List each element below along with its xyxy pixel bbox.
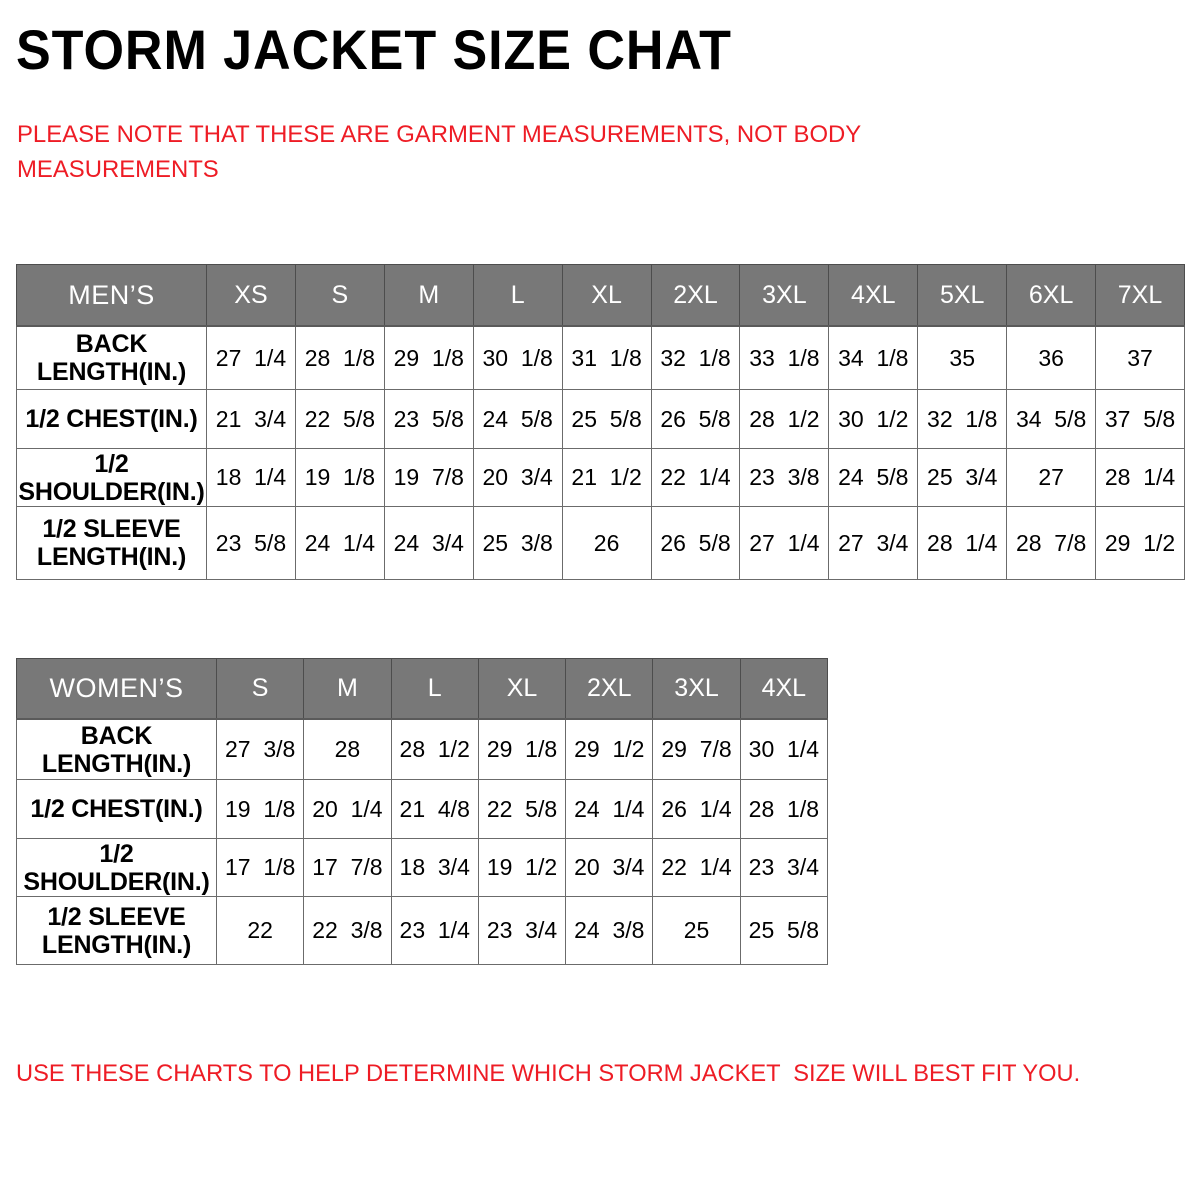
measurement-label-text: 1/2 SHOULDER(IN.) [17,840,216,896]
mens-size-header-xl: XL [562,265,651,327]
mens-measurement-value: 23 5/8 [384,390,473,449]
mens-measurement-value: 29 1/2 [1096,507,1185,580]
measurement-label-text: 1/2 CHEST(IN.) [17,795,216,823]
mens-measurement-label: 1/2 SLEEVE LENGTH(IN.) [17,507,207,580]
womens-measurement-label: 1/2 CHEST(IN.) [17,780,217,839]
table-row: 1/2 SLEEVE LENGTH(IN.)2222 3/823 1/423 3… [17,897,828,965]
womens-measurement-value: 28 1/2 [391,719,478,780]
womens-measurement-value: 27 3/8 [217,719,304,780]
womens-measurement-label: BACK LENGTH(IN.) [17,719,217,780]
mens-measurement-label: 1/2 CHEST(IN.) [17,390,207,449]
measurement-label-text: BACK LENGTH(IN.) [17,330,206,386]
womens-measurement-value: 30 1/4 [740,719,827,780]
womens-size-header-l: L [391,659,478,720]
table-row: 1/2 CHEST(IN.)19 1/820 1/421 4/822 5/824… [17,780,828,839]
womens-measurement-value: 25 5/8 [740,897,827,965]
garment-measurement-note: PLEASE NOTE THAT THESE ARE GARMENT MEASU… [17,118,953,188]
mens-measurement-value: 19 1/8 [295,449,384,507]
mens-measurement-value: 23 5/8 [207,507,296,580]
mens-measurement-value: 30 1/2 [829,390,918,449]
mens-size-header-6xl: 6XL [1007,265,1096,327]
mens-table-head: MEN’S XSSMLXL2XL3XL4XL5XL6XL7XL [17,265,1185,327]
mens-measurement-value: 28 1/2 [740,390,829,449]
womens-size-header-xl: XL [478,659,565,720]
womens-size-header-m: M [304,659,391,720]
womens-measurement-value: 22 1/4 [653,839,740,897]
table-row: 1/2 SLEEVE LENGTH(IN.)23 5/824 1/424 3/4… [17,507,1185,580]
womens-measurement-value: 23 3/4 [478,897,565,965]
womens-measurement-value: 25 [653,897,740,965]
mens-measurement-value: 27 [1007,449,1096,507]
womens-measurement-value: 24 3/8 [566,897,653,965]
mens-measurement-value: 32 1/8 [651,326,740,390]
womens-measurement-value: 29 1/2 [566,719,653,780]
womens-size-header-2xl: 2XL [566,659,653,720]
mens-measurement-label: BACK LENGTH(IN.) [17,326,207,390]
mens-measurement-value: 20 3/4 [473,449,562,507]
mens-size-table: MEN’S XSSMLXL2XL3XL4XL5XL6XL7XL BACK LEN… [16,264,1185,580]
mens-measurement-value: 25 3/8 [473,507,562,580]
mens-measurement-value: 19 7/8 [384,449,473,507]
womens-measurement-value: 28 [304,719,391,780]
mens-measurement-value: 24 3/4 [384,507,473,580]
measurement-label-text: 1/2 CHEST(IN.) [17,405,206,433]
womens-measurement-value: 17 7/8 [304,839,391,897]
mens-measurement-value: 36 [1007,326,1096,390]
womens-measurement-value: 19 1/8 [217,780,304,839]
mens-size-header-5xl: 5XL [918,265,1007,327]
mens-size-header-4xl: 4XL [829,265,918,327]
mens-measurement-value: 34 5/8 [1007,390,1096,449]
mens-table-title-cell: MEN’S [17,265,207,327]
measurement-label-text: 1/2 SLEEVE LENGTH(IN.) [17,515,206,571]
mens-size-header-s: S [295,265,384,327]
womens-size-header-s: S [217,659,304,720]
womens-measurement-value: 29 1/8 [478,719,565,780]
mens-measurement-value: 28 1/4 [918,507,1007,580]
measurement-label-text: 1/2 SLEEVE LENGTH(IN.) [17,903,216,959]
mens-size-header-m: M [384,265,473,327]
mens-measurement-value: 27 3/4 [829,507,918,580]
womens-header-row: WOMEN’S SMLXL2XL3XL4XL [17,659,828,720]
mens-size-header-3xl: 3XL [740,265,829,327]
mens-measurement-value: 25 3/4 [918,449,1007,507]
mens-measurement-value: 25 5/8 [562,390,651,449]
mens-measurement-value: 35 [918,326,1007,390]
womens-measurement-value: 22 3/8 [304,897,391,965]
mens-measurement-value: 31 1/8 [562,326,651,390]
womens-size-header-3xl: 3XL [653,659,740,720]
measurement-label-text: 1/2 SHOULDER(IN.) [17,450,206,506]
measurement-label-text: BACK LENGTH(IN.) [17,722,216,778]
table-row: BACK LENGTH(IN.)27 3/82828 1/229 1/829 1… [17,719,828,780]
womens-measurement-value: 23 3/4 [740,839,827,897]
womens-measurement-value: 28 1/8 [740,780,827,839]
mens-measurement-label: 1/2 SHOULDER(IN.) [17,449,207,507]
mens-measurement-value: 28 1/4 [1096,449,1185,507]
mens-measurement-value: 21 1/2 [562,449,651,507]
mens-measurement-value: 24 1/4 [295,507,384,580]
mens-measurement-value: 18 1/4 [207,449,296,507]
mens-measurement-value: 26 5/8 [651,390,740,449]
mens-measurement-value: 22 1/4 [651,449,740,507]
womens-measurement-value: 22 5/8 [478,780,565,839]
page-title: STORM JACKET SIZE CHAT [16,22,732,78]
mens-measurement-value: 33 1/8 [740,326,829,390]
mens-measurement-value: 26 5/8 [651,507,740,580]
womens-measurement-value: 18 3/4 [391,839,478,897]
mens-header-row: MEN’S XSSMLXL2XL3XL4XL5XL6XL7XL [17,265,1185,327]
womens-measurement-value: 29 7/8 [653,719,740,780]
womens-table-body: BACK LENGTH(IN.)27 3/82828 1/229 1/829 1… [17,719,828,965]
womens-measurement-value: 26 1/4 [653,780,740,839]
size-guidance-note: USE THESE CHARTS TO HELP DETERMINE WHICH… [16,1060,1080,1088]
womens-measurement-value: 22 [217,897,304,965]
womens-table-head: WOMEN’S SMLXL2XL3XL4XL [17,659,828,720]
mens-measurement-value: 21 3/4 [207,390,296,449]
mens-measurement-value: 26 [562,507,651,580]
womens-measurement-value: 23 1/4 [391,897,478,965]
mens-measurement-value: 37 5/8 [1096,390,1185,449]
mens-size-header-2xl: 2XL [651,265,740,327]
mens-size-header-7xl: 7XL [1096,265,1185,327]
mens-measurement-value: 34 1/8 [829,326,918,390]
mens-measurement-value: 37 [1096,326,1185,390]
mens-measurement-value: 29 1/8 [384,326,473,390]
womens-measurement-value: 20 1/4 [304,780,391,839]
mens-measurement-value: 24 5/8 [829,449,918,507]
table-row: 1/2 SHOULDER(IN.)18 1/419 1/819 7/820 3/… [17,449,1185,507]
mens-table-body: BACK LENGTH(IN.)27 1/428 1/829 1/830 1/8… [17,326,1185,580]
womens-measurement-value: 19 1/2 [478,839,565,897]
table-row: BACK LENGTH(IN.)27 1/428 1/829 1/830 1/8… [17,326,1185,390]
mens-measurement-value: 27 1/4 [207,326,296,390]
mens-measurement-value: 30 1/8 [473,326,562,390]
womens-measurement-value: 24 1/4 [566,780,653,839]
womens-table-title-cell: WOMEN’S [17,659,217,720]
mens-measurement-value: 28 1/8 [295,326,384,390]
mens-measurement-value: 28 7/8 [1007,507,1096,580]
mens-measurement-value: 27 1/4 [740,507,829,580]
womens-measurement-label: 1/2 SLEEVE LENGTH(IN.) [17,897,217,965]
mens-size-header-xs: XS [207,265,296,327]
mens-measurement-value: 32 1/8 [918,390,1007,449]
mens-size-header-l: L [473,265,562,327]
mens-measurement-value: 22 5/8 [295,390,384,449]
womens-measurement-value: 21 4/8 [391,780,478,839]
womens-size-header-4xl: 4XL [740,659,827,720]
table-row: 1/2 SHOULDER(IN.)17 1/817 7/818 3/419 1/… [17,839,828,897]
table-row: 1/2 CHEST(IN.)21 3/422 5/823 5/824 5/825… [17,390,1185,449]
mens-measurement-value: 24 5/8 [473,390,562,449]
womens-measurement-value: 20 3/4 [566,839,653,897]
mens-measurement-value: 23 3/8 [740,449,829,507]
womens-measurement-label: 1/2 SHOULDER(IN.) [17,839,217,897]
womens-measurement-value: 17 1/8 [217,839,304,897]
womens-size-table: WOMEN’S SMLXL2XL3XL4XL BACK LENGTH(IN.)2… [16,658,828,965]
